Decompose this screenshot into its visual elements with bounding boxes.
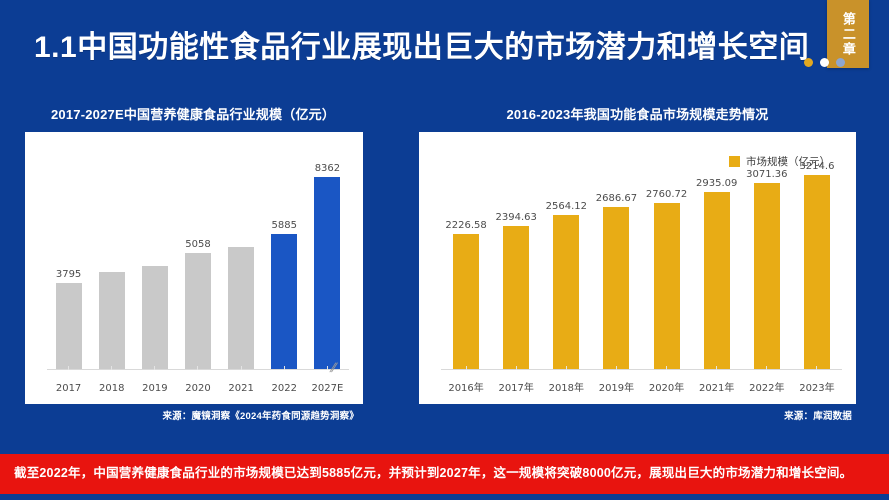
bar-item[interactable]: 2226.58: [441, 158, 491, 370]
bar-rect[interactable]: [704, 192, 730, 370]
bar-item[interactable]: 5300: [220, 158, 263, 370]
bar-item[interactable]: 5885: [263, 158, 306, 370]
x-axis-label: 2020年: [642, 379, 692, 394]
white-dot-icon: [820, 58, 829, 67]
chart-source-left: 来源：魔镜洞察《2024年药食同源趋势洞察》: [25, 404, 363, 422]
bar-value-label: 3795: [56, 269, 81, 280]
axis-tick: [197, 366, 198, 370]
bar-rect[interactable]: [228, 247, 254, 370]
axis-tick: [68, 366, 69, 370]
bar-value-label: 2686.67: [596, 193, 637, 204]
bar-chart-left: 3795420045005058530058858362201720182019…: [25, 132, 363, 404]
x-axis-label: 2021: [220, 383, 263, 394]
x-axis-label: 2027E: [306, 383, 349, 394]
slide-root: 第二章 1.1中国功能性食品行业展现出巨大的市场潜力和增长空间 2017-202…: [0, 0, 889, 500]
axis-tick: [716, 366, 717, 370]
axis-tick: [327, 366, 328, 370]
bar-value-label: 3214.6: [799, 161, 834, 172]
chapter-badge-label: 第二章: [841, 12, 855, 57]
axis-tick: [816, 366, 817, 370]
bar-rect[interactable]: [453, 234, 479, 370]
bottom-strip: [0, 494, 889, 500]
bar-item[interactable]: 2760.72: [642, 158, 692, 370]
x-axis-label: 2019年: [591, 379, 641, 394]
bar-chart-right: 市场规模（亿元）2226.582394.632564.122686.672760…: [419, 132, 856, 404]
x-axis-label: 2022年: [742, 379, 792, 394]
bar-value-label: 8362: [315, 163, 340, 174]
gray-dot-icon: [836, 58, 845, 67]
x-axis-label: 2016年: [441, 379, 491, 394]
page-title: 1.1中国功能性食品行业展现出巨大的市场潜力和增长空间: [34, 22, 809, 66]
x-axis-labels: 2017201820192020202120222027E: [47, 383, 349, 394]
x-axis-ticks: [441, 366, 842, 370]
decorative-dots: [804, 58, 845, 67]
x-axis-labels: 2016年2017年2018年2019年2020年2021年2022年2023年: [441, 379, 842, 394]
chart-title-left: 2017-2027E中国营养健康食品行业规模（亿元）: [25, 104, 363, 123]
bar-rect[interactable]: [804, 175, 830, 370]
x-axis-label: 2017年: [491, 379, 541, 394]
x-axis-label: 2019: [133, 383, 176, 394]
axis-tick: [241, 366, 242, 370]
chart-title-right: 2016-2023年我国功能食品市场规模走势情况: [419, 104, 856, 123]
bar-rect[interactable]: [754, 183, 780, 370]
axis-tick: [616, 366, 617, 370]
bar-value-label: 2935.09: [696, 178, 737, 189]
bar-series: 2226.582394.632564.122686.672760.722935.…: [441, 158, 842, 370]
chart-panel-left: 2017-2027E中国营养健康食品行业规模（亿元） 3795420045005…: [25, 104, 363, 422]
bar-rect[interactable]: [56, 283, 82, 370]
axis-tick: [566, 366, 567, 370]
x-axis-label: 2021年: [692, 379, 742, 394]
chart-source-right: 来源：库润数据: [419, 404, 856, 422]
chart-card-right: 市场规模（亿元）2226.582394.632564.122686.672760…: [419, 132, 856, 404]
bar-value-label: 2226.58: [445, 220, 486, 231]
x-axis-label: 2018: [90, 383, 133, 394]
axis-tick: [766, 366, 767, 370]
x-axis-label: 2022: [263, 383, 306, 394]
summary-banner: 截至2022年，中国营养健康食品行业的市场规模已达到5885亿元，并预计到202…: [0, 454, 889, 494]
bar-value-label: 3071.36: [746, 169, 787, 180]
bar-item[interactable]: 2686.67: [591, 158, 641, 370]
bar-item[interactable]: 8362: [306, 158, 349, 370]
x-axis-label: 2023年: [792, 379, 842, 394]
axis-tick: [666, 366, 667, 370]
x-axis-ticks: [47, 366, 349, 370]
bar-item[interactable]: 4500: [133, 158, 176, 370]
bar-item[interactable]: 2394.63: [491, 158, 541, 370]
axis-tick: [466, 366, 467, 370]
bar-rect[interactable]: [314, 177, 340, 370]
bar-rect[interactable]: [185, 253, 211, 370]
bar-rect[interactable]: [503, 226, 529, 370]
bar-rect[interactable]: [654, 203, 680, 370]
bar-item[interactable]: 5058: [176, 158, 219, 370]
bar-value-label: 2564.12: [546, 201, 587, 212]
axis-tick: [516, 366, 517, 370]
gold-dot-icon: [804, 58, 813, 67]
summary-banner-text: 截至2022年，中国营养健康食品行业的市场规模已达到5885亿元，并预计到202…: [14, 463, 875, 484]
bar-value-label: 5058: [185, 239, 210, 250]
bar-rect[interactable]: [271, 234, 297, 370]
bar-value-label: 2394.63: [496, 212, 537, 223]
axis-tick: [284, 366, 285, 370]
x-axis-label: 2017: [47, 383, 90, 394]
chart-panel-right: 2016-2023年我国功能食品市场规模走势情况 市场规模（亿元）2226.58…: [419, 104, 856, 422]
bar-value-label: 2760.72: [646, 189, 687, 200]
bar-rect[interactable]: [603, 207, 629, 370]
x-axis-label: 2020: [176, 383, 219, 394]
bar-item[interactable]: 3795: [47, 158, 90, 370]
bar-rect[interactable]: [553, 215, 579, 370]
bar-rect[interactable]: [142, 266, 168, 370]
axis-tick: [111, 366, 112, 370]
bar-item[interactable]: 4200: [90, 158, 133, 370]
bar-rect[interactable]: [99, 272, 125, 370]
bar-item[interactable]: 2564.12: [541, 158, 591, 370]
bar-value-label: 5885: [272, 220, 297, 231]
axis-tick: [154, 366, 155, 370]
bar-item[interactable]: 2935.09: [692, 158, 742, 370]
bar-item[interactable]: 3071.36: [742, 158, 792, 370]
bar-item[interactable]: 3214.6: [792, 158, 842, 370]
x-axis-label: 2018年: [541, 379, 591, 394]
bar-series: 3795420045005058530058858362: [47, 158, 349, 370]
chart-card-left: 3795420045005058530058858362201720182019…: [25, 132, 363, 404]
